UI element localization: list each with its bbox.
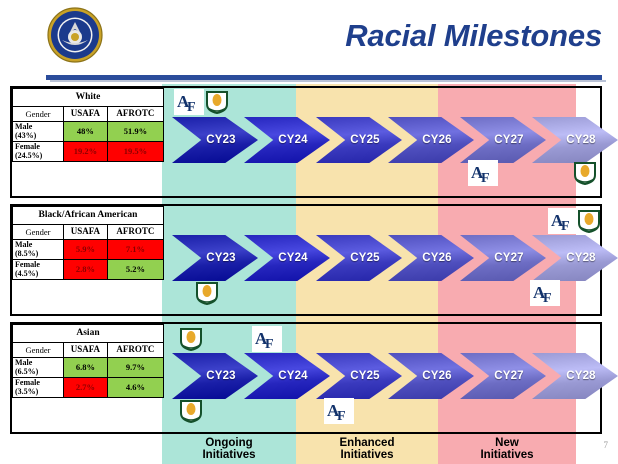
row-label-male: Male(43%) [13,122,64,142]
usafa-falcon-logo: AF [530,280,560,306]
row-label-line2: (43%) [15,131,36,140]
afrotc-shield-logo [576,208,602,234]
chevron-label: CY26 [422,134,452,146]
chevron-label: CY28 [566,370,596,382]
afrotc-shield-logo [178,326,204,352]
cell-usafa-male: 6.8% [64,358,108,378]
race-table-asian: Asian Gender USAFA AFROTC Male(6.5%) 6.8… [12,324,164,398]
phase-caption-line2: Initiatives [480,449,533,461]
column-header-usafa: USAFA [64,343,108,358]
title-divider-shadow [50,80,606,82]
column-header-afrotc: AFROTC [107,225,163,240]
table-row: Male(6.5%) 6.8% 9.7% [13,358,164,378]
chevron-label: CY27 [494,252,524,264]
cell-usafa-female: 19.2% [64,142,108,162]
cell-usafa-male: 5.9% [64,240,108,260]
timeline-chevrons-asian: CY28CY27CY26CY25CY24CY23 AF AF [172,324,602,432]
row-label-male: Male(8.5%) [13,240,64,260]
column-header-gender: Gender [13,343,64,358]
column-header-afrotc: AFROTC [107,343,163,358]
phase-caption-enhanced: Enhanced Initiatives [296,437,438,462]
chevron-label: CY26 [422,252,452,264]
race-table-white: White Gender USAFA AFROTC Male(43%) 48% … [12,88,164,162]
row-label-female: Female(3.5%) [13,378,64,398]
row-label-line2: (8.5%) [15,249,38,258]
page-number: 7 [604,440,609,450]
column-header-gender: Gender [13,107,64,122]
row-label-line2: (24.5%) [15,151,42,160]
row-label-line2: (6.5%) [15,367,38,376]
phase-caption-ongoing: Ongoing Initiatives [162,437,296,462]
cell-usafa-female: 2.8% [64,260,108,280]
table-row: Female(3.5%) 2.7% 4.6% [13,378,164,398]
svg-text:F: F [561,219,570,234]
race-title: White [13,89,164,107]
row-label-female: Female(4.5%) [13,260,64,280]
chevron-label: CY27 [494,370,524,382]
chevron-label: CY23 [206,370,236,382]
column-header-gender: Gender [13,225,64,240]
svg-text:F: F [481,171,490,186]
row-label-line2: (3.5%) [15,387,38,396]
chevron-label: CY24 [278,252,308,264]
svg-text:F: F [337,409,346,424]
usafa-falcon-logo: AF [174,89,204,115]
chevron-label: CY28 [566,134,596,146]
row-label-line2: (4.5%) [15,269,38,278]
phase-caption-line1: New [495,437,519,449]
usafa-falcon-logo: AF [252,326,282,352]
usafa-falcon-logo: AF [324,398,354,424]
race-panel-black-african-american: Black/African American Gender USAFA AFRO… [10,204,602,316]
race-table-black-african-american: Black/African American Gender USAFA AFRO… [12,206,164,280]
cell-afrotc-male: 51.9% [107,122,163,142]
chevron-label: CY24 [278,134,308,146]
table-row: Male(43%) 48% 51.9% [13,122,164,142]
svg-text:F: F [265,337,274,352]
row-label-female: Female(24.5%) [13,142,64,162]
timeline-chevrons-black-african-american: CY28CY27CY26CY25CY24CY23 AF AF [172,206,602,314]
chevron-label: CY27 [494,134,524,146]
chevron-label: CY25 [350,252,380,264]
phase-caption-line1: Ongoing [205,437,252,449]
chevron-label: CY28 [566,252,596,264]
afrotc-shield-logo [178,398,204,424]
phase-caption-line1: Enhanced [340,437,395,449]
afrotc-shield-logo [204,89,230,115]
svg-text:F: F [187,100,196,115]
chevron-label: CY23 [206,252,236,264]
table-row: Female(4.5%) 2.8% 5.2% [13,260,164,280]
cell-usafa-female: 2.7% [64,378,108,398]
afrotc-shield-logo [194,280,220,306]
race-title: Asian [13,325,164,343]
cell-afrotc-male: 9.7% [107,358,163,378]
cell-afrotc-female: 4.6% [107,378,163,398]
page-title: Racial Milestones [345,18,602,54]
chevron-label: CY25 [350,370,380,382]
usafa-falcon-logo: AF [468,160,498,186]
timeline-chevron-cy23[interactable]: CY23 [172,353,258,399]
cell-usafa-male: 48% [64,122,108,142]
chevron-label: CY23 [206,134,236,146]
race-panel-white: White Gender USAFA AFROTC Male(43%) 48% … [10,86,602,198]
timeline-chevrons-white: CY28CY27CY26CY25CY24CY23 AF AF [172,88,602,196]
chevron-label: CY25 [350,134,380,146]
chevron-label: CY24 [278,370,308,382]
afrotc-shield-logo [572,160,598,186]
cell-afrotc-female: 19.5% [107,142,163,162]
column-header-afrotc: AFROTC [107,107,163,122]
cell-afrotc-female: 5.2% [107,260,163,280]
phase-caption-line2: Initiatives [340,449,393,461]
table-row: Female(24.5%) 19.2% 19.5% [13,142,164,162]
column-header-usafa: USAFA [64,107,108,122]
usafa-falcon-logo: AF [548,208,578,234]
race-title: Black/African American [13,207,164,225]
timeline-chevron-cy23[interactable]: CY23 [172,235,258,281]
table-row: Male(8.5%) 5.9% 7.1% [13,240,164,260]
column-header-usafa: USAFA [64,225,108,240]
row-label-male: Male(6.5%) [13,358,64,378]
chevron-label: CY26 [422,370,452,382]
timeline-chevron-cy23[interactable]: CY23 [172,117,258,163]
phase-caption-line2: Initiatives [202,449,255,461]
phase-caption-new: New Initiatives [438,437,576,462]
cell-afrotc-male: 7.1% [107,240,163,260]
department-of-the-air-force-seal [42,6,108,64]
svg-text:F: F [543,291,552,306]
race-panel-asian: Asian Gender USAFA AFROTC Male(6.5%) 6.8… [10,322,602,434]
